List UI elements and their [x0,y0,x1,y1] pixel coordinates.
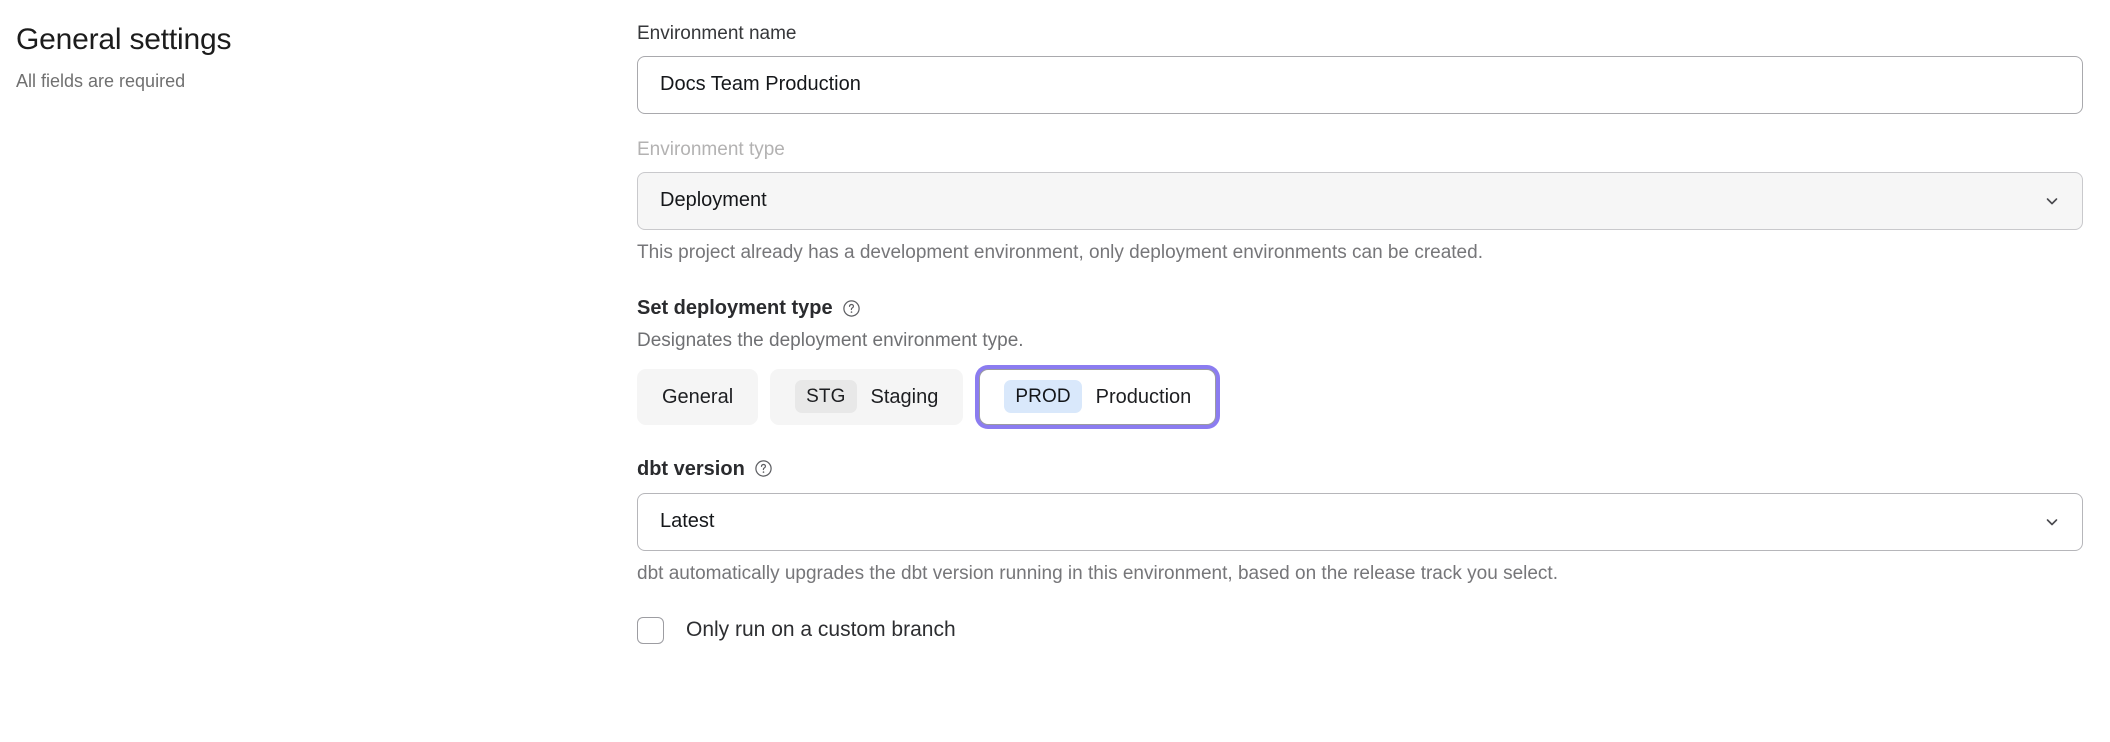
environment-name-label: Environment name [637,22,2083,46]
environment-type-label: Environment type [637,138,2083,162]
environment-name-field: Environment name [637,22,2083,114]
environment-type-select[interactable]: Deployment [637,172,2083,230]
custom-branch-field: Only run on a custom branch [637,617,2083,644]
dbt-version-heading: dbt version [637,457,2083,481]
environment-type-value: Deployment [660,189,767,212]
dbt-version-value: Latest [660,510,714,533]
dbt-version-select[interactable]: Latest [637,493,2083,551]
deployment-type-field: Set deployment type Designates the deplo… [637,296,2083,425]
deployment-type-option-production[interactable]: PROD Production [979,369,1216,425]
deployment-type-option-staging-label: Staging [871,387,939,407]
environment-type-select-wrap: Deployment [637,172,2083,230]
custom-branch-checkbox[interactable] [637,617,664,644]
page-subtitle: All fields are required [16,70,576,93]
deployment-type-description: Designates the deployment environment ty… [637,329,2083,354]
settings-intro: General settings All fields are required [16,22,576,93]
dbt-version-label: dbt version [637,457,745,481]
environment-name-input[interactable] [637,56,2083,114]
environment-type-helper: This project already has a development e… [637,241,2083,266]
production-badge: PROD [1004,380,1081,413]
dbt-version-select-wrap: Latest [637,493,2083,551]
dbt-version-field: dbt version Latest [637,457,2083,587]
environment-type-field: Environment type Deployment This project… [637,138,2083,265]
deployment-type-option-general-label: General [662,387,733,407]
deployment-type-heading: Set deployment type [637,296,2083,320]
page-title: General settings [16,22,576,58]
deployment-type-option-production-label: Production [1096,387,1192,407]
deployment-type-option-general[interactable]: General [637,369,758,425]
settings-form: Environment name Environment type Deploy… [637,22,2083,644]
question-circle-icon[interactable] [754,459,773,478]
dbt-version-helper: dbt automatically upgrades the dbt versi… [637,562,2083,587]
deployment-type-option-staging[interactable]: STG Staging [770,369,963,425]
deployment-type-options: General STG Staging PROD Production [637,369,2083,425]
deployment-type-heading-text: Set deployment type [637,296,833,320]
general-settings-page: General settings All fields are required… [0,0,2110,742]
staging-badge: STG [795,380,856,413]
custom-branch-label[interactable]: Only run on a custom branch [686,617,956,642]
question-circle-icon[interactable] [842,299,861,318]
